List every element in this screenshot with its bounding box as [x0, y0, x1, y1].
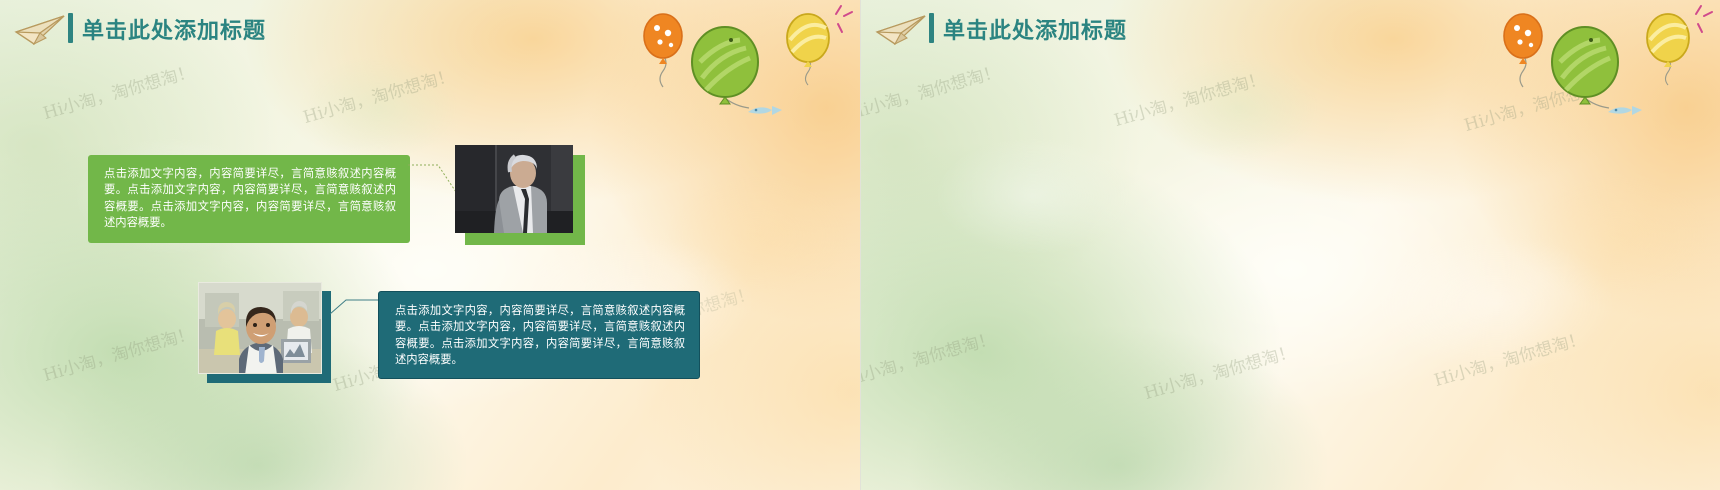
slide-left: Hi小淘，淘你想淘！ Hi小淘，淘你想淘！ Hi小淘，淘你想淘！ Hi小淘，淘你…	[0, 0, 860, 490]
green-box-text: 点击添加文字内容，内容简要详尽，言简意赅叙述内容概要。点击添加文字内容，内容简要…	[104, 166, 396, 232]
page-title: 单击此处添加标题	[82, 13, 266, 45]
balloon-decoration-right	[1490, 0, 1720, 120]
watermark: Hi小淘，淘你想淘！	[860, 57, 1003, 124]
paper-plane-icon	[14, 14, 70, 48]
watermark: Hi小淘，淘你想淘！	[40, 57, 197, 124]
watermark: Hi小淘，淘你想淘！	[1431, 324, 1588, 391]
office-worker-smiling-photo[interactable]	[198, 282, 322, 374]
watermark: Hi小淘，淘你想淘！	[1141, 337, 1298, 404]
teal-text-box[interactable]: 点击添加文字内容，内容简要详尽，言简意赅叙述内容概要。点击添加文字内容，内容简要…	[378, 291, 700, 379]
page-title: 单击此处添加标题	[943, 13, 1127, 45]
green-text-box[interactable]: 点击添加文字内容，内容简要详尽，言简意赅叙述内容概要。点击添加文字内容，内容简要…	[88, 155, 410, 243]
paper-plane-icon	[875, 14, 931, 48]
slide-right: Hi小淘，淘你想淘！ Hi小淘，淘你想淘！ Hi小淘，淘你想淘！ Hi小淘，淘你…	[860, 0, 1720, 490]
title-accent-bar	[68, 13, 73, 43]
photo-bottom-wrapper[interactable]	[198, 282, 333, 382]
watermark: Hi小淘，淘你想淘！	[40, 319, 197, 386]
connector-line-bottom	[330, 292, 384, 322]
businessman-grey-suit-photo[interactable]	[455, 145, 573, 233]
teal-box-text: 点击添加文字内容，内容简要详尽，言简意赅叙述内容概要。点击添加文字内容，内容简要…	[395, 303, 685, 369]
watermark: Hi小淘，淘你想淘！	[1111, 64, 1268, 131]
watermark: Hi小淘，淘你想淘！	[300, 61, 457, 128]
watermark: Hi小淘，淘你想淘！	[860, 324, 998, 391]
balloon-decoration-left	[630, 0, 860, 120]
photo-top-wrapper[interactable]	[455, 145, 585, 245]
title-accent-bar	[929, 13, 934, 43]
